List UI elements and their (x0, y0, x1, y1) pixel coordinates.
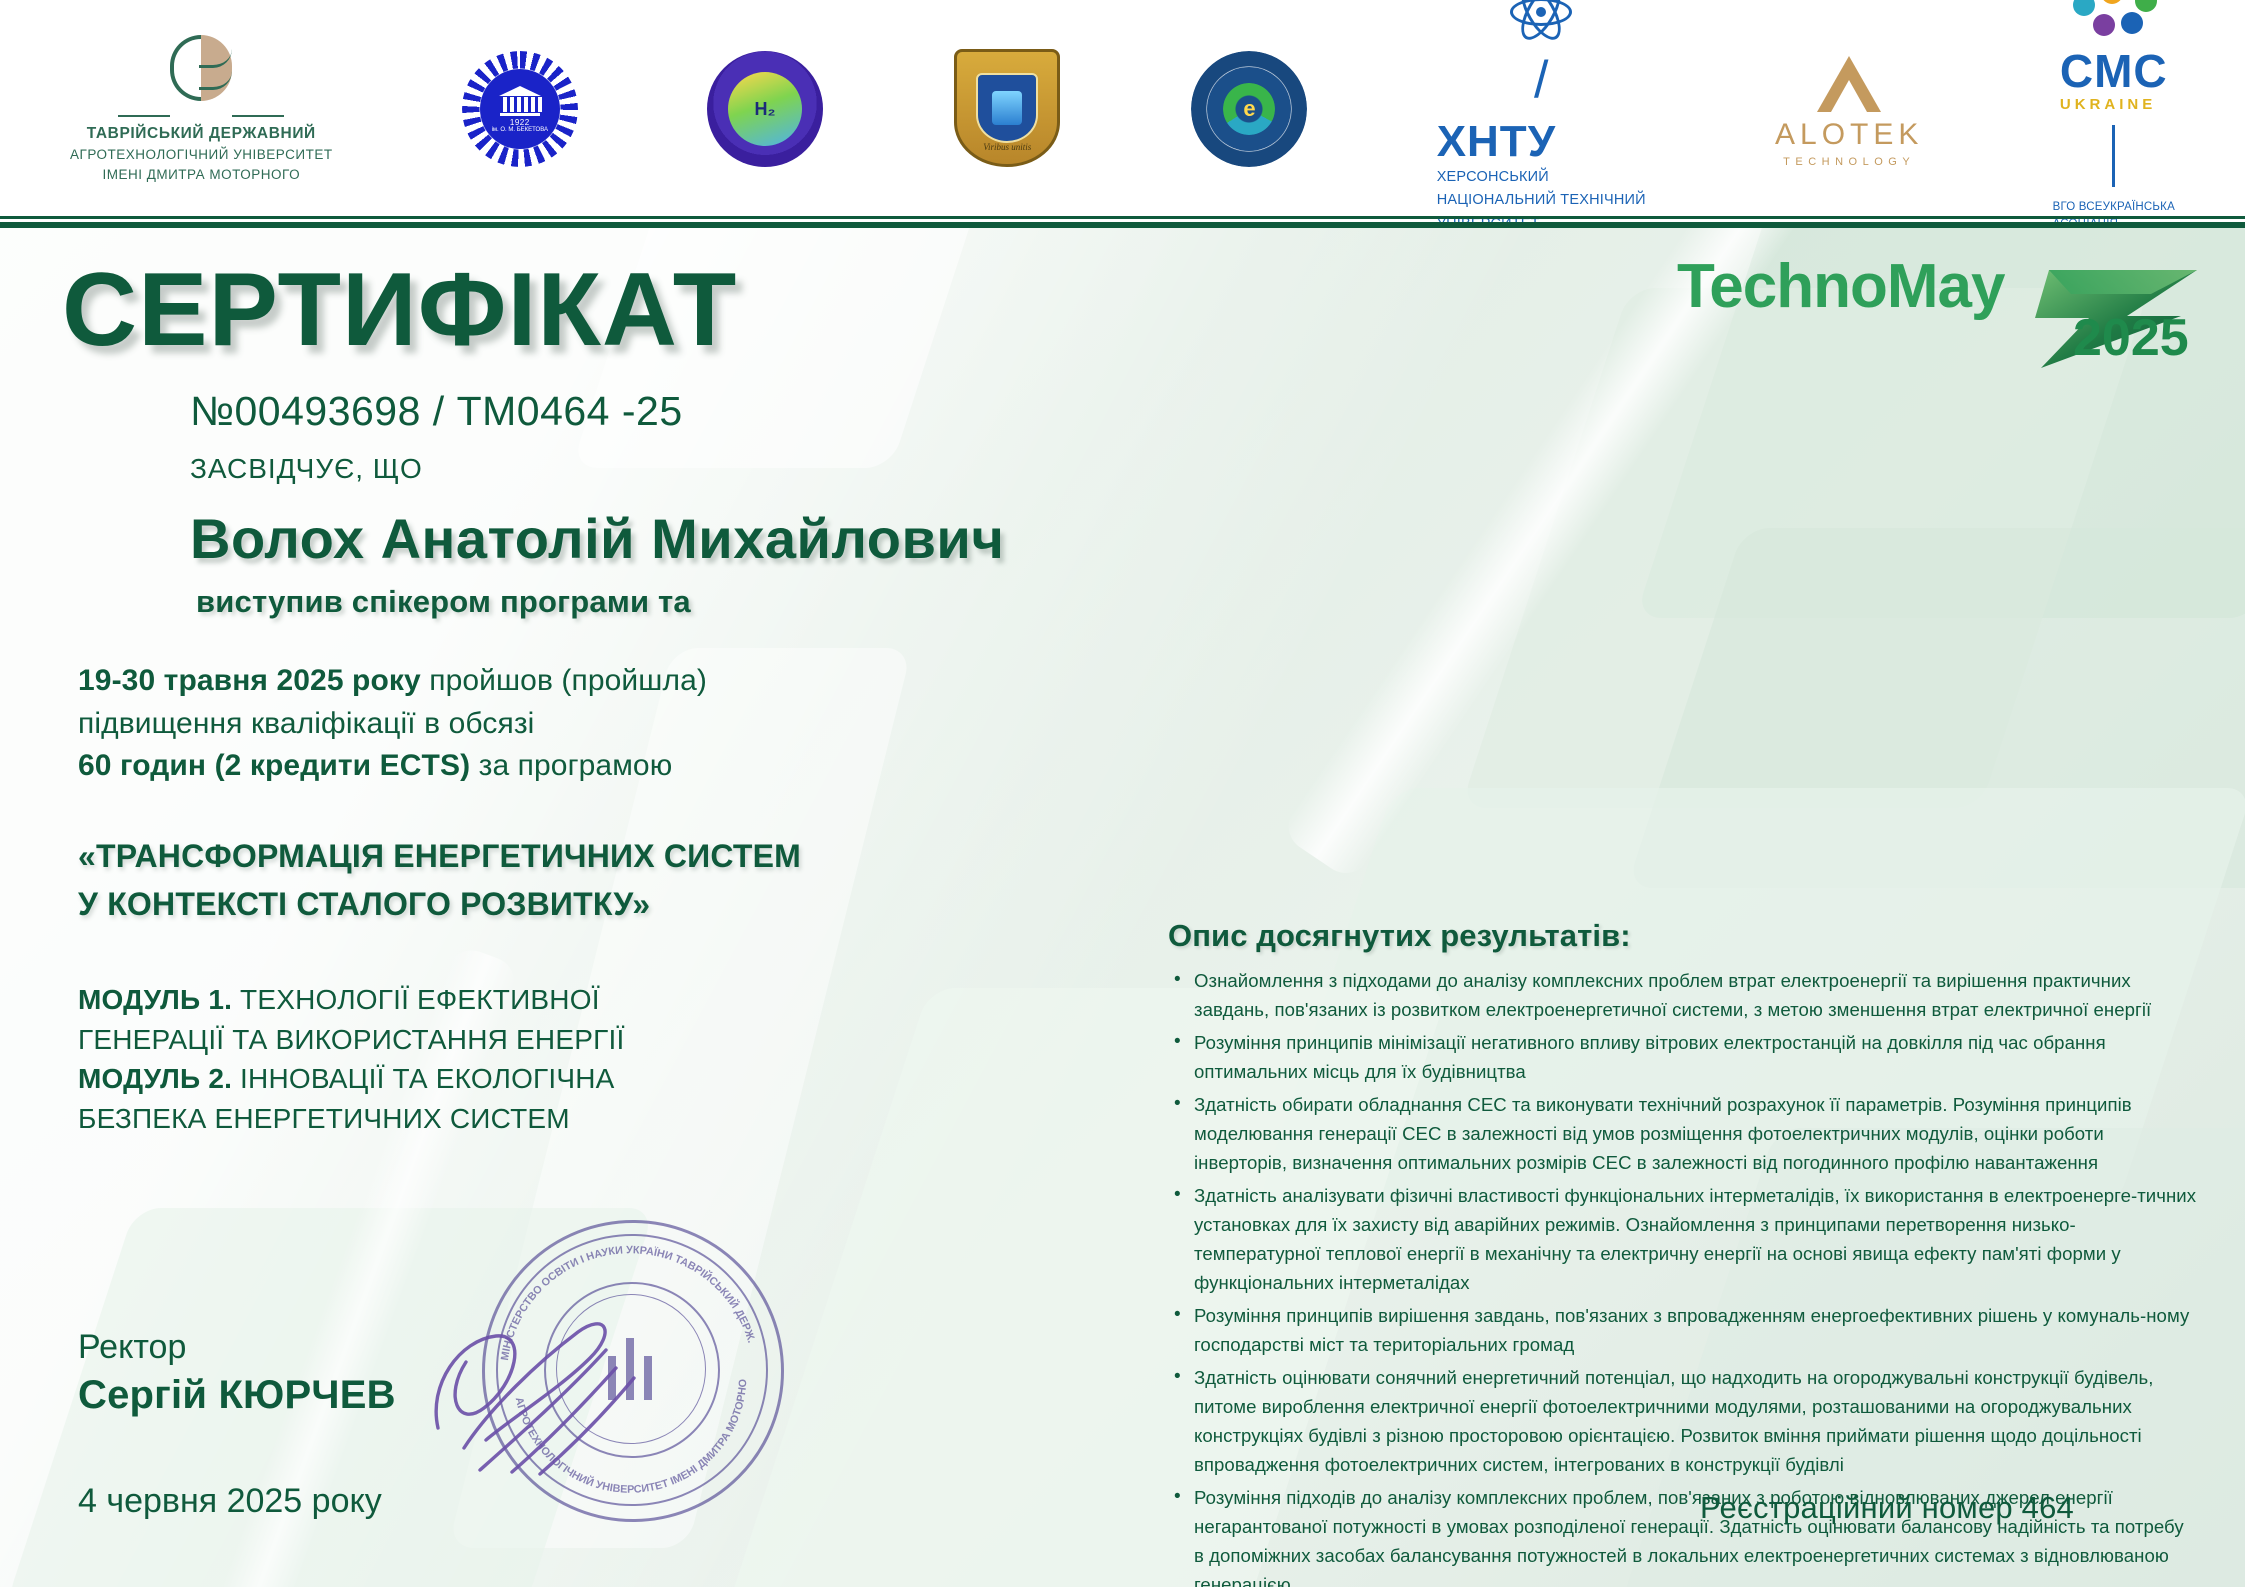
partner-logo-bar: ТАВРІЙСЬКИЙ ДЕРЖАВНИЙ АГРОТЕХНОЛОГІЧНИЙ … (0, 0, 2245, 218)
program-title: «ТРАНСФОРМАЦІЯ ЕНЕРГЕТИЧНИХ СИСТЕМ У КОН… (78, 832, 838, 928)
shield-icon: Viribus unitis (952, 49, 1062, 169)
hours-rest: за програмою (470, 749, 672, 782)
list-item: Розуміння принципів вирішення завдань, п… (1168, 1301, 2198, 1359)
xntu-line1: ХЕРСОНСЬКИЙ (1437, 168, 1646, 188)
atom-icon (1513, 0, 1569, 40)
module-2-text: ІННОВАЦІЇ ТА ЕКОЛОГІЧНА (232, 1063, 614, 1094)
program-title-line1: «ТРАНСФОРМАЦІЯ ЕНЕРГЕТИЧНИХ СИСТЕМ (78, 832, 838, 880)
cmc-line1: ВГО ВСЕУКРАЇНСЬКА (2053, 199, 2175, 216)
holder-name: Волох Анатолій Михайлович (190, 506, 1004, 571)
module-line-4: БЕЗПЕКА ЕНЕРГЕТИЧНИХ СИСТЕМ (78, 1099, 838, 1139)
attest-label: ЗАСВІДЧУЄ, ЩО (190, 453, 423, 485)
alotek-triangle-icon (1817, 50, 1881, 112)
knubh-seal-icon: 1922 ім. О. М. БЕКЕТОВА (462, 51, 578, 167)
hours-bold: 60 годин (2 кредити ECTS) (78, 749, 470, 782)
handwritten-signature (420, 1288, 650, 1488)
cmc-abbr: CMC (2060, 48, 2168, 94)
issue-date: 4 червня 2025 року (78, 1482, 382, 1521)
temple-icon (499, 86, 541, 116)
alotek-sub: TECHNOLOGY (1783, 156, 1915, 168)
cmc-divider (2112, 125, 2115, 187)
technomay-wordmark: TechnoMay (1677, 256, 2004, 318)
page-title: СЕРТИФІКАТ (62, 258, 737, 362)
xntu-line2: НАЦІОНАЛЬНИЙ ТЕХНІЧНИЙ (1437, 191, 1646, 211)
module-line-1: МОДУЛЬ 1. ТЕХНОЛОГІЇ ЕФЕКТИВНОЇ (78, 980, 838, 1020)
signature-block: Ректор Сергій КЮРЧЕВ (78, 1328, 396, 1418)
certificate-page: ТАВРІЙСЬКИЙ ДЕРЖАВНИЙ АГРОТЕХНОЛОГІЧНИЙ … (0, 0, 2245, 1587)
ivre-seal-icon: H₂ (707, 51, 823, 167)
list-item: Здатність аналізувати фізичні властивост… (1168, 1181, 2198, 1297)
xntu-abbr: ХНТУ (1437, 120, 1646, 164)
ige-symbol: e (1191, 51, 1307, 167)
tavria-university-logo: ТАВРІЙСЬКИЙ ДЕРЖАВНИЙ АГРОТЕХНОЛОГІЧНИЙ … (70, 33, 333, 186)
list-item: Здатність оцінювати сонячний енергетични… (1168, 1363, 2198, 1479)
tdatu-line3: ІМЕНІ ДМИТРА МОТОРНОГО (102, 165, 300, 185)
signer-name: Сергій КЮРЧЕВ (78, 1373, 396, 1418)
alotek-title: ALOTEK (1775, 118, 1923, 152)
modules-list: МОДУЛЬ 1. ТЕХНОЛОГІЇ ЕФЕКТИВНОЇ ГЕНЕРАЦІ… (78, 980, 838, 1139)
results-heading: Опис досягнутих результатів: (1168, 918, 2198, 954)
technomay-event-logo: TechnoMay 2025 (1653, 252, 2213, 372)
kherson-technical-university-logo: / ХНТУ ХЕРСОНСЬКИЙ НАЦІОНАЛЬНИЙ ТЕХНІЧНИ… (1437, 0, 1646, 234)
hours-line: 60 годин (2 кредити ECTS) за програмою (78, 745, 838, 788)
module-line-3: МОДУЛЬ 2. ІННОВАЦІЇ ТА ЕКОЛОГІЧНА (78, 1059, 838, 1099)
renewable-energy-institute-logo: H₂ (707, 51, 823, 167)
certificate-number: №00493698 / ТМ0464 -25 (190, 388, 683, 435)
holder-role: виступив спікером програми та (196, 584, 691, 620)
program-title-line2: У КОНТЕКСТІ СТАЛОГО РОЗВИТКУ» (78, 880, 838, 928)
list-item: Ознайомлення з підходами до аналізу комп… (1168, 966, 2198, 1024)
tdatu-rules (118, 115, 284, 117)
kharkiv-urban-economy-logo: 1922 ім. О. М. БЕКЕТОВА (462, 51, 578, 167)
cmc-dots-icon (2071, 0, 2157, 36)
tdatu-line1: ТАВРІЙСЬКИЙ ДЕРЖАВНИЙ (87, 123, 316, 145)
ivre-symbol: H₂ (755, 99, 776, 120)
module-2-label: МОДУЛЬ 2. (78, 1063, 232, 1094)
module-1-label: МОДУЛЬ 1. (78, 984, 232, 1015)
university-shield-logo: Viribus unitis (952, 49, 1062, 169)
alotek-logo: ALOTEK TECHNOLOGY (1775, 50, 1923, 168)
slash-icon: / (1534, 54, 1548, 106)
qualification-line: підвищення кваліфікації в обсязі (78, 703, 838, 746)
technomay-year: 2025 (2073, 312, 2189, 364)
tdatu-line2: АГРОТЕХНОЛОГІЧНИЙ УНІВЕРСИТЕТ (70, 145, 333, 165)
dates-rest: пройшов (пройшла) (421, 664, 707, 697)
dates-bold: 19-30 травня 2025 року (78, 664, 421, 697)
header-divider (0, 216, 2245, 228)
dates-line: 19-30 травня 2025 року пройшов (пройшла) (78, 660, 838, 703)
shield-motto: Viribus unitis (957, 142, 1057, 152)
tdatu-leaf-icon (162, 33, 240, 111)
list-item: Здатність обирати обладнання СЕС та вико… (1168, 1090, 2198, 1177)
general-energy-institute-logo: e (1191, 51, 1307, 167)
left-details-column: 19-30 травня 2025 року пройшов (пройшла)… (78, 660, 838, 1139)
cmc-country: UKRAINE (2060, 96, 2168, 113)
registration-number: Реєстраційний номер 464 (1700, 1490, 2074, 1526)
module-line-2: ГЕНЕРАЦІЇ ТА ВИКОРИСТАННЯ ЕНЕРГІЇ (78, 1020, 838, 1060)
results-column: Опис досягнутих результатів: Ознайомленн… (1168, 918, 2198, 1587)
ige-seal-icon: e (1191, 51, 1307, 167)
list-item: Розуміння принципів мінімізації негативн… (1168, 1028, 2198, 1086)
module-1-text: ТЕХНОЛОГІЇ ЕФЕКТИВНОЇ (232, 984, 600, 1015)
signer-role: Ректор (78, 1328, 396, 1367)
certificate-body: TechnoMay 2025 СЕРТИФІКАТ №00493698 / ТМ… (0, 228, 2245, 1587)
